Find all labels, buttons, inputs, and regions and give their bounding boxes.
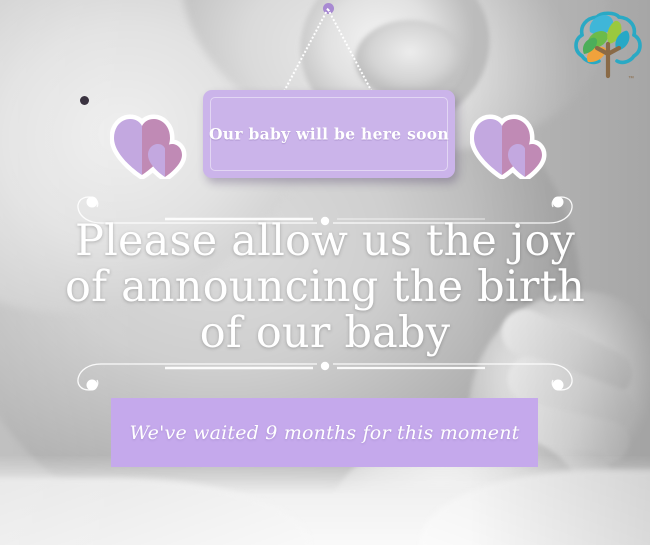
- double-heart-icon-right: [470, 113, 550, 179]
- headline-line-1: Please allow us the joy: [40, 218, 610, 264]
- baby-announcement-card: Our baby will be here soon: [0, 0, 650, 545]
- headline-line-2: of announcing the birth: [40, 264, 610, 310]
- sign-nail-left: [80, 96, 89, 105]
- hanging-sign: Our baby will be here soon: [203, 90, 455, 178]
- bottom-banner: We've waited 9 months for this moment: [111, 398, 538, 467]
- ornamental-divider-bottom: [55, 352, 595, 398]
- headline: Please allow us the joy of announcing th…: [40, 218, 610, 356]
- trademark-symbol: ™: [628, 75, 634, 82]
- sign-label: Our baby will be here soon: [203, 125, 455, 144]
- banner-label: We've waited 9 months for this moment: [111, 422, 538, 444]
- tree-logo: ™: [570, 4, 646, 84]
- double-heart-icon-left: [110, 113, 190, 179]
- headline-line-3: of our baby: [40, 310, 610, 356]
